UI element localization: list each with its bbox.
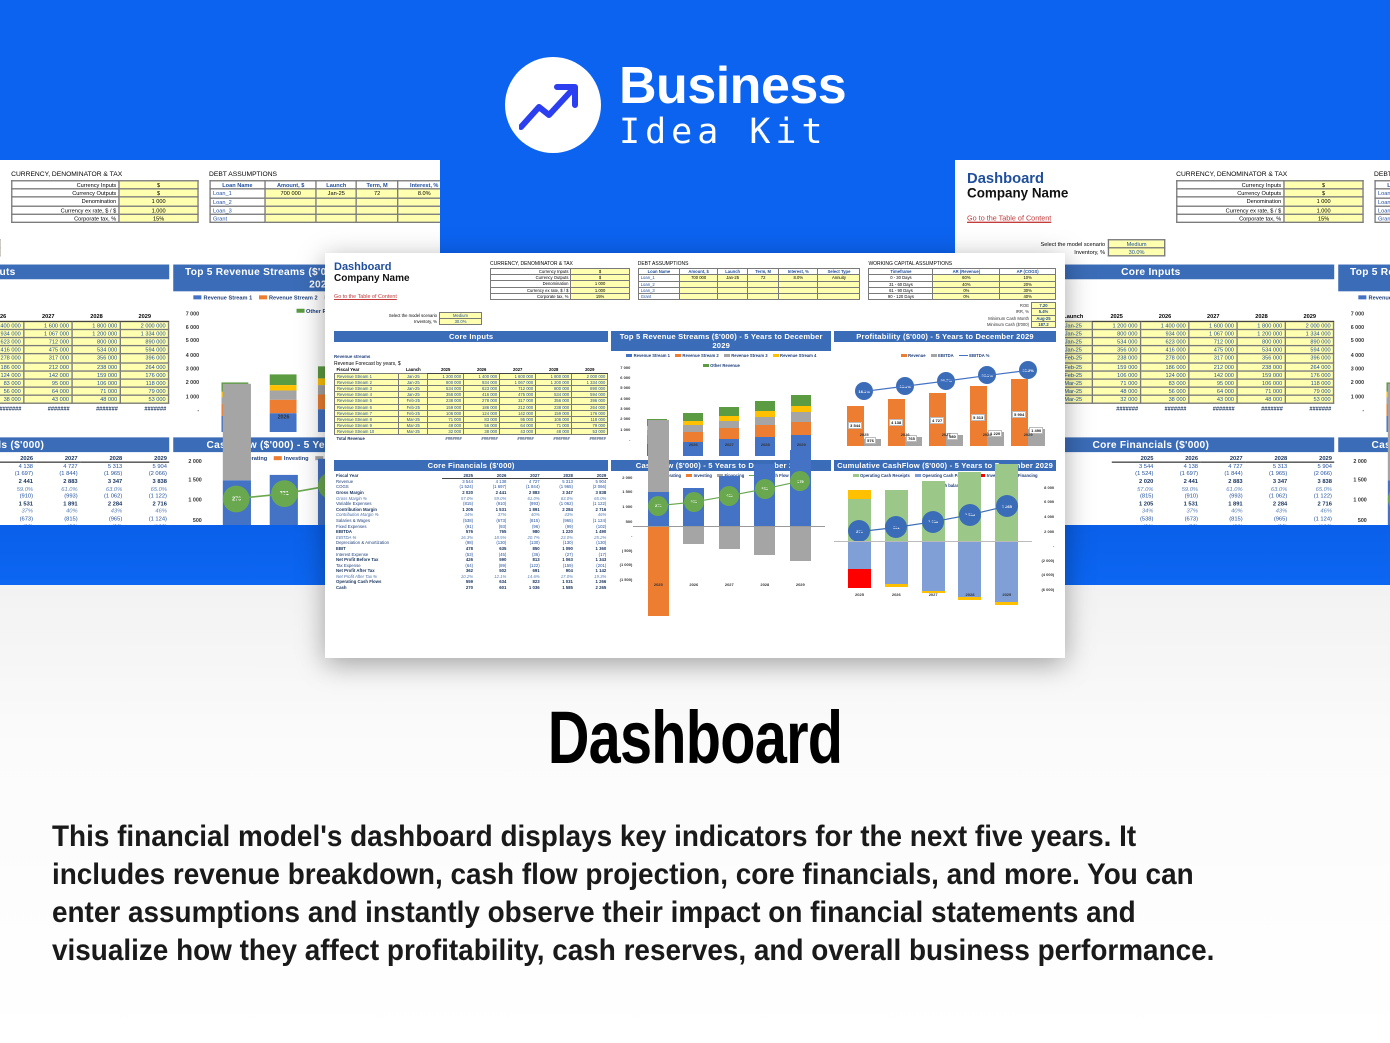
page-title: Dashboard (153, 695, 1237, 780)
x-axis-label: 2029 (786, 582, 815, 587)
y-axis-tick: 1 500 (175, 477, 202, 484)
y-axis-tick: 1 000 (1340, 393, 1364, 400)
x-axis-label: 2028 (967, 432, 1007, 437)
debt-cell[interactable]: 8.0% (398, 189, 440, 197)
core-financials-section-bar: Core Financials ($'000) (334, 460, 608, 471)
y-axis-tick: 500 (175, 516, 202, 523)
revenue-stream-value[interactable]: 186 000 (0, 362, 24, 370)
revenue-stream-value[interactable]: 118 000 (121, 379, 169, 387)
legend-swatch (626, 354, 632, 357)
revenue-stream-value[interactable]: 159 000 (1237, 371, 1285, 379)
revenue-stream-value[interactable]: 43 000 (24, 396, 72, 404)
revenue-stream-value[interactable]: 800 000 (1237, 337, 1285, 345)
revenue-stream-value[interactable]: 594 000 (1286, 346, 1334, 354)
y-axis-tick: 5 000 (175, 337, 199, 344)
revenue-stream-value[interactable]: 48 000 (72, 396, 120, 404)
revenue-stream-value[interactable]: 1 067 000 (24, 329, 72, 337)
revenue-stream-value[interactable]: 623 000 (1141, 337, 1189, 345)
bar-segment (791, 422, 811, 436)
total-revenue-value: ####### (572, 435, 608, 441)
revenue-stream-value[interactable]: 890 000 (1286, 337, 1334, 345)
debt-cell[interactable] (316, 198, 356, 206)
revenue-stream-value[interactable]: 43 000 (1189, 396, 1237, 404)
debt-col-header: Term, M (356, 181, 398, 190)
core-fin-header-row: Fiscal Year20252026202720282029 (0, 455, 170, 462)
x-axis-label: 2026 (885, 432, 925, 437)
y-axis-tick: 3 000 (175, 365, 199, 372)
revenue-stream-value[interactable]: 79 000 (1286, 387, 1334, 395)
revenue-stream-value[interactable]: 71 000 (72, 387, 120, 395)
core-fin-value: (673) (1156, 515, 1201, 522)
debt-cell[interactable] (265, 198, 316, 206)
debt-col-header: Amount, $ (265, 181, 316, 190)
revenue-stream-value[interactable]: 934 000 (0, 329, 24, 337)
revenue-stream-value[interactable]: 623 000 (0, 337, 24, 345)
core-fin-value: (910) (1156, 492, 1201, 499)
total-revenue-value: ####### (428, 435, 464, 441)
core-fin-value: 5 313 (1245, 462, 1290, 469)
legend-label: Revenue Stream 4 (780, 353, 816, 358)
revenue-stream-value[interactable]: 238 000 (1093, 354, 1141, 362)
revenue-stream-value[interactable]: 475 000 (1189, 346, 1237, 354)
debt-row: Loan_1700 000Jan-25728.0%Annuity (1375, 189, 1390, 197)
legend-swatch (773, 354, 779, 357)
revenue-stream-value[interactable]: 1 334 000 (1286, 329, 1334, 337)
core-fin-value: (1 062) (80, 492, 125, 499)
revenue-stream-value[interactable]: 264 000 (1286, 362, 1334, 370)
y-axis-tick: 6 000 (612, 375, 630, 380)
core-fin-value: 1 205 (1111, 500, 1156, 507)
chart-plot: -1 0002 0003 0004 0005 0006 0007 0002025… (1365, 314, 1390, 432)
revenue-stream-value[interactable]: 356 000 (72, 354, 120, 362)
revenue-stream-value[interactable]: 356 000 (1093, 346, 1141, 354)
wc-block-title: WORKING CAPITAL ASSUMPTIONS (868, 261, 1056, 267)
legend-swatch (915, 474, 921, 477)
revenue-stream-value[interactable]: 48 000 (1093, 387, 1141, 395)
core-financials-table: Fiscal Year20252026202720282029 Revenue3… (334, 473, 608, 590)
x-axis-label: 2027 (918, 592, 949, 597)
kpi-row: Minimum Cash ($'000) 187.2 (985, 321, 1056, 327)
core-fin-value: 3 838 (1290, 477, 1335, 484)
total-revenue-value: ####### (500, 435, 536, 441)
debt-row: Loan_2 (1375, 198, 1390, 206)
core-fin-value: (538) (1111, 515, 1156, 522)
revenue-stream-value[interactable]: 1 200 000 (1237, 329, 1285, 337)
core-fin-year: 2026 (0, 455, 36, 462)
core-fin-row: Contribution Margin %34%37%40%43%46% (334, 512, 608, 518)
revenue-stream-value[interactable]: 238 000 (1237, 362, 1285, 370)
debt-cell[interactable]: 72 (356, 189, 398, 197)
y-axis-tick: 2 000 (175, 457, 202, 464)
revenue-stream-value[interactable]: 475 000 (24, 346, 72, 354)
wc-row: 90 - 120 Days0%40% (869, 293, 1056, 299)
revenue-stream-value[interactable]: 712 000 (1189, 337, 1237, 345)
debt-cell[interactable] (316, 214, 356, 222)
debt-cell[interactable] (398, 198, 440, 206)
y-axis-tick: 7 000 (175, 310, 199, 317)
revenue-stream-value[interactable]: 534 000 (72, 346, 120, 354)
debt-row: Grant (638, 293, 860, 299)
y-axis-tick: 7 000 (1340, 310, 1364, 317)
total-revenue-value: ####### (72, 404, 120, 412)
total-revenue-value: ####### (536, 435, 572, 441)
legend-label: Revenue Stream 3 (731, 353, 767, 358)
core-fin-value: 3 838 (125, 477, 170, 484)
currency-value[interactable]: 15% (571, 293, 629, 299)
x-axis-label: 2028 (751, 442, 779, 447)
core-fin-row: Contribution Margin1 2051 5311 8912 2842… (0, 500, 170, 507)
wc-cell[interactable]: 90 - 120 Days (869, 293, 933, 299)
x-axis-label: 2026 (679, 442, 707, 447)
currency-value[interactable]: 1.000 (120, 206, 198, 214)
revenue-stream-value[interactable]: 416 000 (1141, 346, 1189, 354)
profitability-chart: RevenueEBITDAEBITDA %3 54457616.3%20254 … (834, 353, 1056, 456)
y-axis-tick: 2 000 (175, 379, 199, 386)
kpi-row: Minimum Cash Month Aug-25 (985, 315, 1056, 321)
revenue-stream-value[interactable]: 317 000 (1189, 354, 1237, 362)
core-fin-value: 63.0% (80, 485, 125, 492)
debt-col-header: Interest, % (398, 181, 440, 190)
y-axis-tick: 6 000 (175, 324, 199, 331)
chart-plot: 3 54457616.3%20254 13876518.5%20264 7279… (840, 358, 1052, 446)
core-fin-value: 3 347 (1245, 477, 1290, 484)
core-fin-value: 61.0% (36, 485, 81, 492)
core-fin-row: Contribution Margin %34%37%40%43%46% (0, 507, 170, 514)
revenue-stream-value[interactable]: 1 200 000 (72, 329, 120, 337)
currency-value[interactable]: $ (1285, 181, 1363, 189)
currency-block-title: CURRENCY, DENOMINATOR & TAX (11, 171, 198, 179)
cash-flow-section-bar: Cash flow ($'000) - 5 Years to December … (1339, 437, 1390, 452)
revenue-stream-value[interactable]: 64 000 (1189, 387, 1237, 395)
net-cash-flow-line (633, 478, 825, 580)
currency-row: Currency Outputs $ (1177, 189, 1363, 197)
chart-plot: 8 0006 0004 0002 000-(2 000)(4 000)(6 00… (834, 488, 1032, 606)
core-fin-label: Cash (334, 585, 442, 591)
revenue-stream-value[interactable]: 106 000 (1237, 379, 1285, 387)
wc-cell[interactable]: 40% (1000, 293, 1056, 299)
core-fin-value: (1 965) (80, 470, 125, 477)
core-fin-value: (1 124) (1290, 515, 1335, 522)
growth-arrow-icon (505, 57, 601, 153)
revenue-stream-value[interactable]: 212 000 (1189, 362, 1237, 370)
revenue-stream-value[interactable]: 106 000 (72, 379, 120, 387)
currency-value[interactable]: 15% (1285, 214, 1363, 222)
core-fin-value: 40% (1201, 507, 1246, 514)
core-fin-year: 2029 (1290, 455, 1335, 462)
debt-cell[interactable]: Loan_3 (1375, 206, 1390, 214)
inventory-row: Inventory, % 30.0% (334, 319, 482, 325)
revenue-stream-value[interactable]: 396 000 (1286, 354, 1334, 362)
y-axis-tick: (1 500) (612, 577, 632, 582)
currency-block: CURRENCY, DENOMINATOR & TAX Currency Inp… (490, 261, 630, 300)
revenue-stream-value[interactable]: 159 000 (72, 371, 120, 379)
revenue-stream-value[interactable]: 594 000 (121, 346, 169, 354)
x-axis-label: 2027 (715, 582, 744, 587)
debt-block: DEBT ASSUMPTIONS Loan NameAmount, $Launc… (638, 261, 861, 300)
core-fin-value: (910) (0, 492, 36, 499)
total-revenue-value: ####### (464, 435, 500, 441)
kpi-value: 187.2 (1032, 321, 1056, 327)
revenue-stream-value[interactable]: 56 000 (0, 387, 24, 395)
bar-segment (270, 391, 297, 400)
revenue-streams-label: Revenue streams (334, 354, 608, 359)
core-inputs-section-bar: Core Inputs (0, 264, 170, 279)
ebitda-pct-bubble: 25.2% (1019, 361, 1037, 379)
revenue-stream-value[interactable]: 124 000 (0, 371, 24, 379)
revenue-stream-value[interactable]: 1 334 000 (121, 329, 169, 337)
revenue-stream-value[interactable]: 56 000 (1141, 387, 1189, 395)
revenue-stream-value[interactable]: 534 000 (1237, 346, 1285, 354)
debt-cell[interactable] (718, 293, 748, 299)
debt-cell[interactable] (680, 293, 718, 299)
y-axis-tick: - (612, 533, 632, 538)
revenue-stream-value[interactable]: 1 600 000 (1189, 321, 1237, 329)
debt-row: Grant (210, 214, 440, 222)
core-fin-value: 46% (125, 507, 170, 514)
revenue-stream-value[interactable]: 2 000 000 (121, 321, 169, 329)
x-axis-label: 2029 (787, 442, 815, 447)
debt-col-header: Loan Name (210, 181, 265, 190)
revenue-stream-value[interactable]: 142 000 (1189, 371, 1237, 379)
x-axis-label: 2026 (881, 592, 912, 597)
currency-value[interactable]: 1.000 (1285, 206, 1363, 214)
legend-label: Revenue Stream 1 (204, 294, 253, 301)
revenue-stream-value[interactable]: 48 000 (1237, 396, 1285, 404)
revenue-stream-row: Revenue Stream 9 Mar-2548 00056 00064 00… (0, 387, 169, 395)
legend-item: Revenue Stream 3 (724, 353, 768, 358)
legend-label: Operating Cash Receipts (860, 473, 910, 478)
brand-name-secondary: Idea Kit (619, 113, 846, 151)
bar-segment (791, 395, 811, 406)
table-of-content-link[interactable]: Go to the Table of Content (334, 294, 397, 300)
y-axis-tick: 2 000 (612, 475, 632, 480)
revenue-forecast-table: Fiscal Year Launch20252026202720282029 R… (334, 367, 608, 441)
debt-cell[interactable] (356, 214, 398, 222)
year-header: 2027 (24, 313, 72, 321)
core-fin-value: 2 441 (1156, 477, 1201, 484)
core-fin-year: 2026 (1156, 455, 1201, 462)
debt-cell[interactable]: Loan_1 (1375, 189, 1390, 197)
revenue-stream-value[interactable]: 71 000 (1093, 379, 1141, 387)
debt-cell[interactable]: 700 000 (265, 189, 316, 197)
revenue-stream-value[interactable]: 416 000 (0, 346, 24, 354)
y-axis-tick: (1 000) (612, 562, 632, 567)
revenue-stream-value[interactable]: 800 000 (1093, 329, 1141, 337)
currency-value[interactable]: $ (120, 181, 198, 189)
bar-segment (683, 432, 703, 442)
revenue-stream-value[interactable]: 95 000 (24, 379, 72, 387)
core-fin-value: (2 066) (125, 470, 170, 477)
revenue-stream-value[interactable]: 1 067 000 (1189, 329, 1237, 337)
top5-revenue-chart: Revenue Stream 1Revenue Stream 2Revenue … (611, 353, 831, 456)
wc-cell[interactable]: 0% (933, 293, 1000, 299)
debt-cell[interactable] (398, 206, 440, 214)
revenue-stream-value[interactable]: 32 000 (1093, 396, 1141, 404)
core-fin-row: Fixed Expenses(91)(93)(96)(99)(102) (0, 522, 170, 525)
revenue-stream-value[interactable]: 176 000 (1286, 371, 1334, 379)
legend-swatch (686, 474, 692, 477)
revenue-stream-value[interactable]: 534 000 (1093, 337, 1141, 345)
revenue-stream-value[interactable]: 1 600 000 (24, 321, 72, 329)
revenue-stream-value[interactable]: 2 000 000 (1286, 321, 1334, 329)
debt-cell[interactable] (356, 206, 398, 214)
x-axis-label: 2026 (679, 582, 708, 587)
revenue-stream-value[interactable]: 890 000 (121, 337, 169, 345)
core-fin-row: Depreciation & Amortization(98)(130)(130… (334, 540, 608, 546)
debt-cell[interactable] (398, 214, 440, 222)
revenue-stream-value[interactable]: 800 000 (72, 337, 120, 345)
cum-bar-segment (995, 602, 1018, 605)
scenario-table: Select the model scenario Medium Invento… (334, 312, 482, 325)
revenue-stream-value[interactable]: 118 000 (1286, 379, 1334, 387)
core-fin-value: 5 313 (80, 462, 125, 469)
y-axis-tick: (6 000) (1034, 587, 1054, 592)
revenue-stream-value[interactable]: 124 000 (1141, 371, 1189, 379)
year-header: 2028 (72, 313, 120, 321)
revenue-stream-value[interactable]: 38 000 (1141, 396, 1189, 404)
revenue-value-label: 5 313 (971, 414, 985, 421)
core-fin-row: Gross Margin %57.0%59.0%61.0%63.0%65.0% (0, 485, 170, 492)
revenue-stream-value[interactable]: 212 000 (24, 362, 72, 370)
revenue-stream-value[interactable]: 106 000 (1093, 371, 1141, 379)
revenue-stream-value[interactable]: 712 000 (24, 337, 72, 345)
currency-row: Currency ex rate, $ / $ 1.000 (1177, 206, 1363, 214)
core-fin-value: 1 531 (0, 500, 36, 507)
debt-cell[interactable]: Grant (210, 214, 265, 222)
debt-cell[interactable] (748, 293, 779, 299)
core-fin-year: 2027 (36, 455, 81, 462)
revenue-stream-row: Revenue Stream 1 Jan-251 200 0001 400 00… (0, 321, 169, 329)
cash-balance-line (834, 488, 1032, 590)
core-financials-section-bar: Core Financials ($'000) (0, 437, 170, 452)
core-fin-value: 4 727 (1201, 462, 1246, 469)
revenue-stream-value[interactable]: 1 800 000 (72, 321, 120, 329)
debt-cell[interactable] (316, 206, 356, 214)
core-fin-value: 2 716 (125, 500, 170, 507)
y-axis-tick: - (175, 406, 199, 413)
core-fin-value: (815) (36, 515, 81, 522)
revenue-stream-row: Revenue Stream 6 Feb-25159 000186 000212… (0, 362, 169, 370)
revenue-stream-value[interactable]: 1 400 000 (1141, 321, 1189, 329)
currency-row: Currency Inputs $ (1177, 181, 1363, 189)
total-revenue-value: ####### (1286, 404, 1334, 412)
core-fin-value: 1 585 (542, 585, 575, 591)
inventory-input[interactable]: 30.0% (1108, 248, 1164, 256)
revenue-stream-value[interactable]: 278 000 (0, 354, 24, 362)
currency-value[interactable]: $ (120, 189, 198, 197)
revenue-stream-value[interactable]: 1 800 000 (1237, 321, 1285, 329)
table-of-content-link[interactable]: Go to the Table of Content (967, 215, 1051, 223)
core-fin-value: 2 883 (36, 477, 81, 484)
core-fin-value: 1 891 (36, 500, 81, 507)
legend-swatch (853, 474, 859, 477)
debt-cell[interactable]: Loan_2 (210, 198, 265, 206)
y-axis-tick: (4 000) (1034, 572, 1054, 577)
debt-cell[interactable] (265, 214, 316, 222)
debt-cell[interactable] (265, 206, 316, 214)
net-cash-flow-line (1368, 461, 1390, 525)
revenue-stream-value[interactable]: 186 000 (1141, 362, 1189, 370)
revenue-stream-value[interactable]: 53 000 (1286, 396, 1334, 404)
debt-cell[interactable]: Jan-25 (316, 189, 356, 197)
core-fin-value: 1 891 (1201, 500, 1246, 507)
bar-segment (270, 375, 297, 386)
revenue-stream-value[interactable]: 71 000 (1237, 387, 1285, 395)
revenue-stream-value[interactable]: 176 000 (121, 371, 169, 379)
revenue-stream-row: Revenue Stream 8 Mar-2571 00083 00095 00… (0, 379, 169, 387)
revenue-stream-value[interactable]: 238 000 (72, 362, 120, 370)
y-axis-tick: 1 000 (175, 393, 199, 400)
revenue-stream-value[interactable]: 396 000 (121, 354, 169, 362)
revenue-stream-value[interactable]: 53 000 (121, 396, 169, 404)
inventory-input[interactable]: 30.0% (440, 319, 482, 325)
currency-row: Currency ex rate, $ / $ 1.000 (12, 206, 198, 214)
debt-cell[interactable]: Loan_3 (210, 206, 265, 214)
debt-cell[interactable] (356, 198, 398, 206)
revenue-stream-value[interactable]: 264 000 (121, 362, 169, 370)
revenue-stream-row: Revenue Stream 5 Feb-25238 000278 000317… (0, 354, 169, 362)
revenue-stream-value[interactable]: 1 400 000 (0, 321, 24, 329)
currency-value[interactable]: 1 000 (120, 197, 198, 205)
currency-row: Denomination 1 000 (12, 197, 198, 205)
legend-item: Operating Cash Receipts (853, 473, 910, 478)
revenue-stream-value[interactable]: 934 000 (1141, 329, 1189, 337)
core-fin-value: 4 138 (1156, 462, 1201, 469)
revenue-stream-value[interactable]: 95 000 (1189, 379, 1237, 387)
debt-row: Loan_1700 000Jan-25728.0%Annuity (210, 189, 440, 197)
debt-cell[interactable] (779, 293, 818, 299)
revenue-stream-value[interactable]: 83 000 (0, 379, 24, 387)
scenario-select[interactable]: Medium (1108, 240, 1164, 248)
revenue-stream-value[interactable]: 142 000 (24, 371, 72, 379)
debt-cell[interactable]: Grant (1375, 214, 1390, 222)
core-fin-value: 61.0% (1201, 485, 1246, 492)
debt-cell[interactable]: Loan_1 (210, 189, 265, 197)
debt-row: Loan_2 (210, 198, 440, 206)
year-header: 2027 (1189, 313, 1237, 321)
revenue-value-label: 4 727 (930, 417, 944, 424)
dashboard-title: Dashboard (334, 261, 482, 273)
revenue-stream-value[interactable]: 79 000 (121, 387, 169, 395)
legend-swatch (259, 296, 267, 300)
revenue-stream-value[interactable]: 1 200 000 (1093, 321, 1141, 329)
revenue-stream-value[interactable]: 317 000 (24, 354, 72, 362)
core-fin-value: 40% (36, 507, 81, 514)
revenue-stream-value[interactable]: 38 000 (0, 396, 24, 404)
y-axis-tick: 2 000 (1340, 457, 1367, 464)
core-fin-row: Operating Cash Flows5596348231 0311 266 (334, 579, 608, 585)
revenue-stream-value[interactable]: 356 000 (1237, 354, 1285, 362)
currency-value[interactable]: $ (1285, 189, 1363, 197)
company-name: Company Name (967, 187, 1165, 203)
x-axis-label: 2026 (265, 413, 303, 420)
y-axis-tick: 5 000 (1340, 337, 1364, 344)
debt-cell[interactable]: Loan_2 (1375, 198, 1390, 206)
revenue-stream-value[interactable]: 278 000 (1141, 354, 1189, 362)
core-fin-row: Variable Expenses(815)(910)(993)(1 062)(… (0, 492, 170, 499)
revenue-stream-value[interactable]: 83 000 (1141, 379, 1189, 387)
legend-label: Revenue Stream 2 (682, 353, 718, 358)
revenue-stream-value[interactable]: 64 000 (24, 387, 72, 395)
revenue-stream-value[interactable]: 159 000 (1093, 362, 1141, 370)
legend-swatch (193, 296, 201, 300)
debt-cell[interactable] (818, 293, 860, 299)
core-fin-value: (1 965) (1245, 470, 1290, 477)
debt-cell[interactable]: Grant (638, 293, 679, 299)
core-fin-value: 4 138 (0, 462, 36, 469)
currency-value[interactable]: 15% (120, 214, 198, 222)
currency-value[interactable]: 1 000 (1285, 197, 1363, 205)
